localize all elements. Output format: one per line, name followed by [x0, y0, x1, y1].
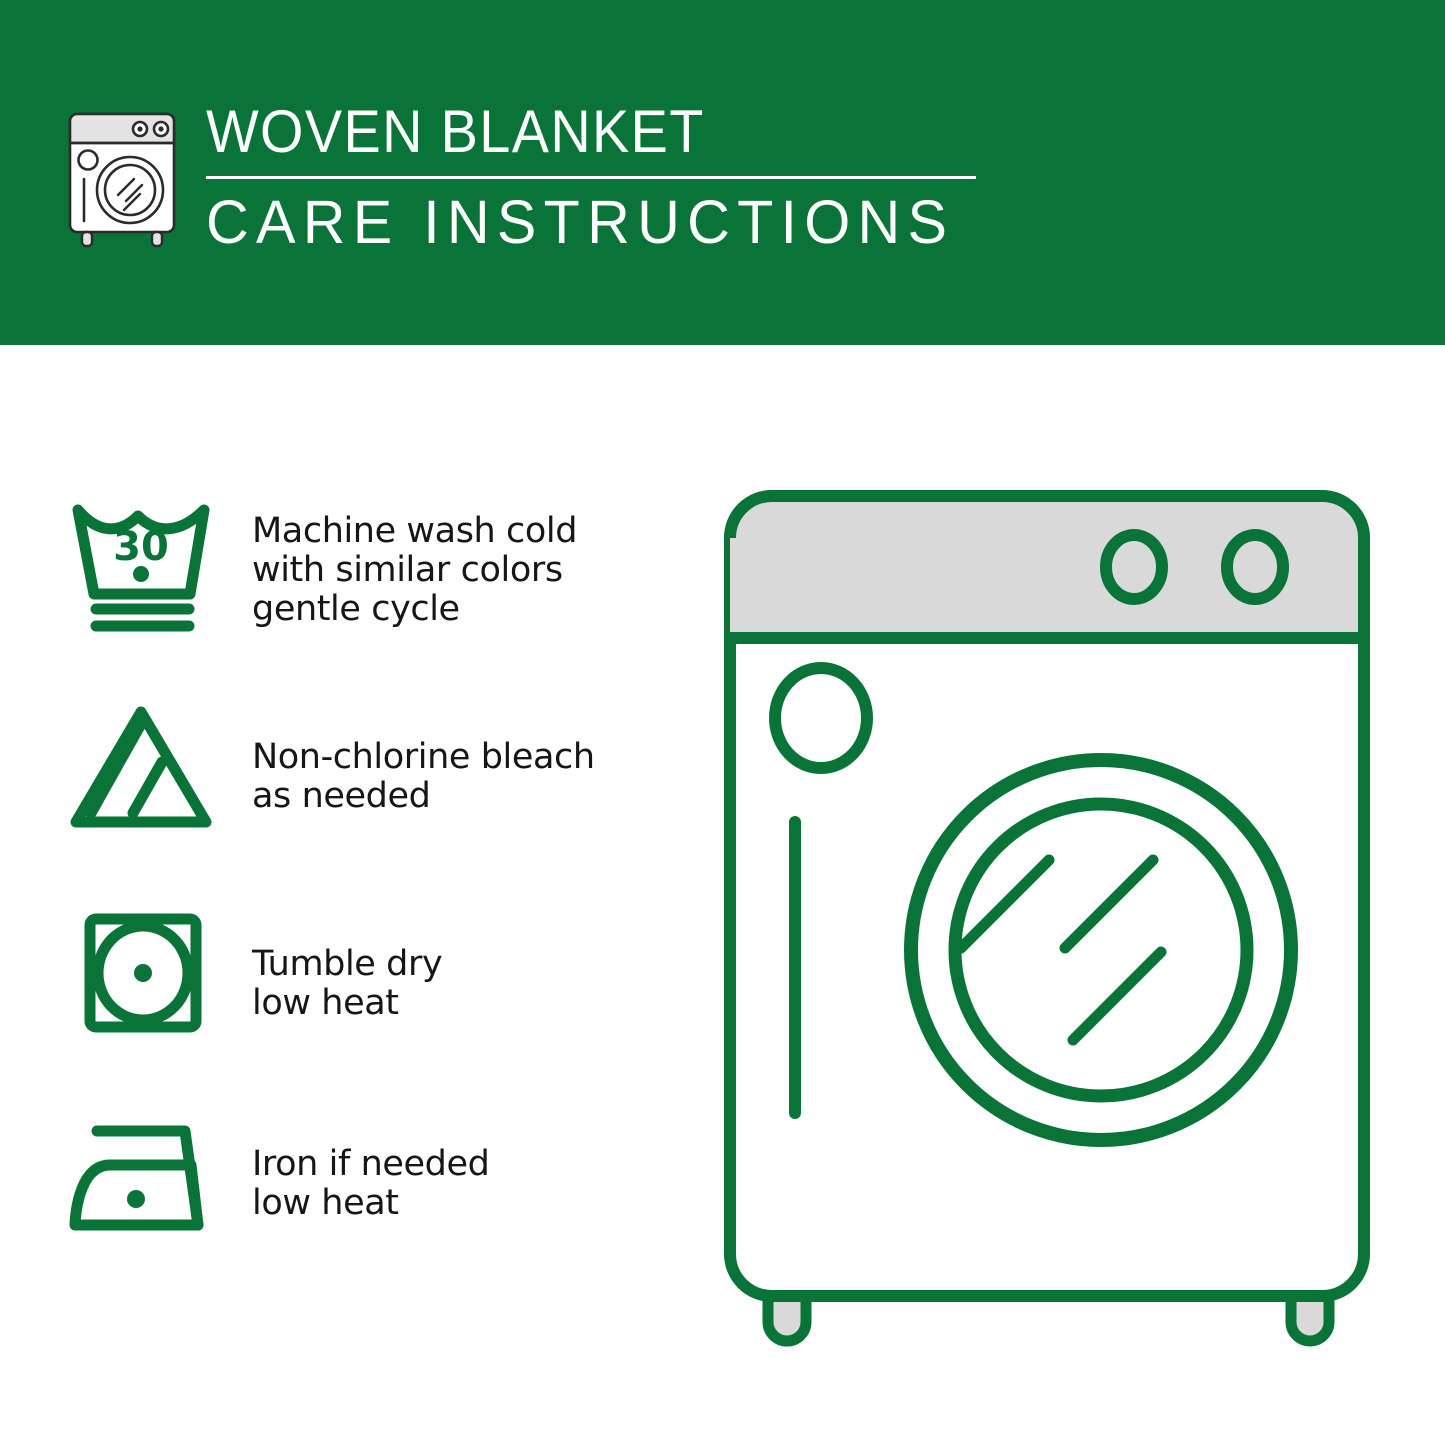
list-item: Tumble dry low heat: [64, 900, 624, 1105]
list-item-label: Iron if needed low heat: [252, 1105, 624, 1223]
control-knob-right: [1227, 535, 1283, 599]
list-item-label: Machine wash cold with similar colors ge…: [252, 490, 624, 629]
page-subtitle: CARE INSTRUCTIONS: [206, 187, 972, 257]
header-text-block: WOVEN BLANKET CARE INSTRUCTIONS: [206, 98, 996, 257]
washing-machine-icon: [62, 100, 182, 250]
tumble-dry-icon: [64, 900, 234, 1050]
label-line: Machine wash cold: [252, 512, 624, 551]
list-item: 30 Machine wash cold with similar colors…: [64, 490, 624, 695]
wash-tub-icon: 30: [64, 490, 234, 640]
label-line: Tumble dry: [252, 945, 624, 984]
iron-icon: [64, 1105, 234, 1255]
title-divider: [206, 176, 976, 179]
control-knob-left: [1106, 535, 1162, 599]
label-line: low heat: [252, 1184, 624, 1223]
front-load-washing-machine-illustration: [716, 470, 1416, 1360]
label-line: Iron if needed: [252, 1145, 624, 1184]
label-line: with similar colors: [252, 551, 624, 590]
wash-temperature-label: 30: [113, 524, 169, 570]
care-instruction-list: 30 Machine wash cold with similar colors…: [64, 490, 624, 1310]
list-item-label: Tumble dry low heat: [252, 900, 624, 1023]
label-line: Non-chlorine bleach: [252, 738, 624, 777]
list-item: Iron if needed low heat: [64, 1105, 624, 1310]
door-inner-ring: [955, 804, 1247, 1096]
label-line: low heat: [252, 984, 624, 1023]
detergent-dispenser-circle: [775, 668, 867, 768]
bleach-triangle-icon: [64, 695, 234, 845]
label-line: as needed: [252, 777, 624, 816]
header-band: WOVEN BLANKET CARE INSTRUCTIONS: [0, 0, 1445, 345]
list-item-label: Non-chlorine bleach as needed: [252, 695, 624, 816]
care-instructions-card: WOVEN BLANKET CARE INSTRUCTIONS 30: [0, 0, 1445, 1445]
page-title: WOVEN BLANKET: [206, 98, 941, 166]
list-item: Non-chlorine bleach as needed: [64, 695, 624, 900]
label-line: gentle cycle: [252, 590, 624, 629]
